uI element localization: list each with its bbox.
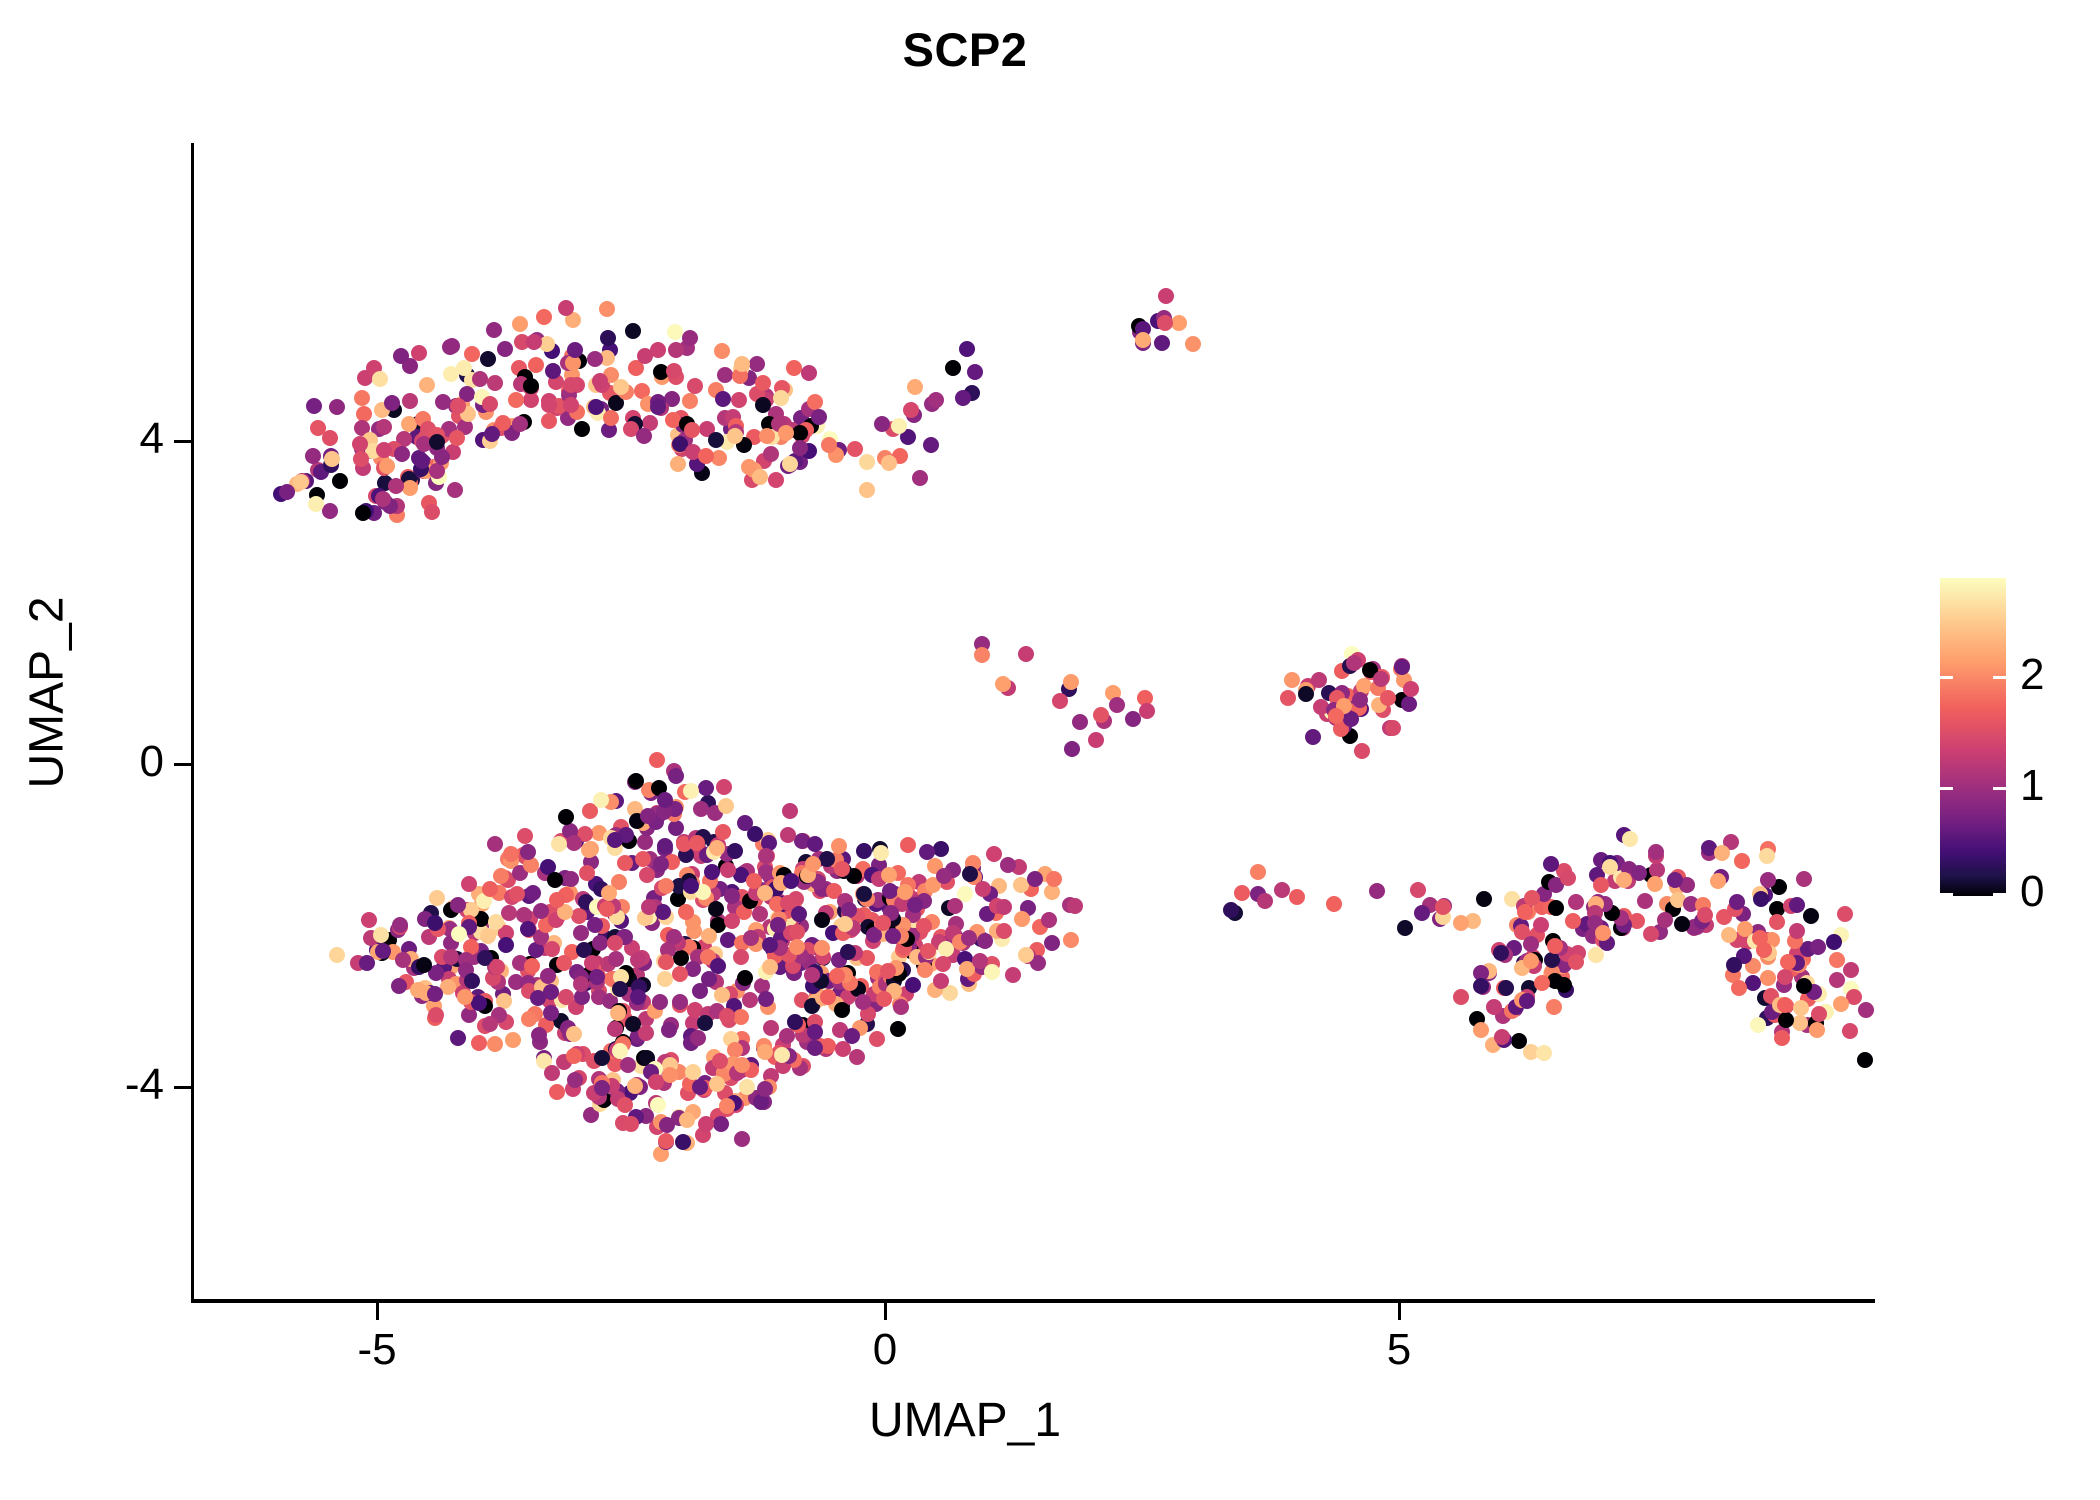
scatter-point <box>414 453 430 469</box>
scatter-point <box>717 367 733 383</box>
scatter-point <box>488 914 504 930</box>
scatter-point <box>361 912 377 928</box>
scatter-point <box>1171 315 1187 331</box>
scatter-point <box>768 472 784 488</box>
scatter-point <box>739 1079 755 1095</box>
scatter-point <box>720 862 736 878</box>
scatter-point <box>1274 882 1290 898</box>
scatter-point <box>305 448 321 464</box>
scatter-point <box>1534 975 1550 991</box>
x-tick-mark <box>376 1303 379 1320</box>
scatter-point <box>556 955 572 971</box>
scatter-point <box>1811 1006 1827 1022</box>
scatter-point <box>1759 848 1775 864</box>
scatter-point <box>936 868 952 884</box>
scatter-point <box>352 436 368 452</box>
scatter-point <box>890 1021 906 1037</box>
scatter-point <box>1544 952 1560 968</box>
scatter-point <box>1637 893 1653 909</box>
scatter-point <box>847 441 863 457</box>
scatter-point <box>1721 927 1737 943</box>
scatter-point <box>859 482 875 498</box>
scatter-point <box>733 949 749 965</box>
scatter-point <box>714 987 730 1003</box>
scatter-point <box>755 397 771 413</box>
colorbar-tick <box>1940 787 1953 790</box>
scatter-point <box>727 843 743 859</box>
scatter-point <box>608 951 624 967</box>
scatter-point <box>617 855 633 871</box>
scatter-point <box>493 868 509 884</box>
scatter-point <box>587 917 603 933</box>
scatter-point <box>1588 947 1604 963</box>
scatter-point <box>819 851 835 867</box>
scatter-point <box>544 1065 560 1081</box>
scatter-point <box>814 912 830 928</box>
scatter-point <box>498 937 514 953</box>
scatter-point <box>933 841 949 857</box>
scatter-point <box>599 301 615 317</box>
scatter-point <box>1072 714 1088 730</box>
scatter-point <box>881 867 897 883</box>
scatter-point <box>600 330 616 346</box>
scatter-point <box>636 428 652 444</box>
page-title: SCP2 <box>0 22 1930 77</box>
scatter-point <box>625 323 641 339</box>
scatter-point <box>464 973 480 989</box>
scatter-point <box>640 808 656 824</box>
scatter-point <box>759 428 775 444</box>
scatter-point <box>670 456 686 472</box>
scatter-point <box>1250 864 1266 880</box>
scatter-point <box>947 898 963 914</box>
scatter-point <box>435 394 451 410</box>
scatter-point <box>1750 1017 1766 1033</box>
scatter-point <box>709 1076 725 1092</box>
y-tick-mark <box>174 763 191 766</box>
scatter-point <box>1829 972 1845 988</box>
scatter-point <box>1046 871 1062 887</box>
scatter-point <box>1546 999 1562 1015</box>
scatter-point <box>675 1134 691 1150</box>
scatter-point <box>903 402 919 418</box>
scatter-point <box>429 434 445 450</box>
scatter-point <box>419 377 435 393</box>
scatter-point <box>692 983 708 999</box>
scatter-point <box>1643 926 1659 942</box>
scatter-point <box>1616 872 1632 888</box>
scatter-point <box>1041 912 1057 928</box>
scatter-point <box>566 835 582 851</box>
scatter-point <box>520 844 536 860</box>
colorbar-tick <box>1940 676 1953 679</box>
scatter-point <box>975 881 991 897</box>
scatter-point <box>786 360 802 376</box>
scatter-point <box>1657 912 1673 928</box>
scatter-point <box>955 390 971 406</box>
scatter-point <box>900 837 916 853</box>
scatter-point <box>472 371 488 387</box>
scatter-point <box>1453 915 1469 931</box>
umap-feature-plot: SCP2 -5 0 5 4 0 -4 UMAP_1 UMAP_2 2 1 0 <box>0 0 2100 1500</box>
scatter-point <box>1157 315 1173 331</box>
scatter-point <box>792 440 808 456</box>
scatter-point <box>563 397 579 413</box>
scatter-point <box>1774 1030 1790 1046</box>
scatter-point <box>355 505 371 521</box>
scatter-point <box>783 873 799 889</box>
scatter-point <box>573 976 589 992</box>
scatter-point <box>661 1022 677 1038</box>
scatter-point <box>1185 336 1201 352</box>
scatter-point <box>692 1079 708 1095</box>
scatter-point <box>427 915 443 931</box>
scatter-point <box>1793 1000 1809 1016</box>
x-tick-label: 5 <box>1339 1325 1459 1375</box>
scatter-point <box>620 1057 636 1073</box>
scatter-point <box>375 491 391 507</box>
scatter-point <box>486 322 502 338</box>
scatter-point <box>411 345 427 361</box>
scatter-point <box>1473 1022 1489 1038</box>
scatter-point <box>551 836 567 852</box>
scatter-point <box>1714 845 1730 861</box>
scatter-point <box>558 989 574 1005</box>
scatter-point <box>1548 900 1564 916</box>
scatter-point <box>1667 872 1683 888</box>
scatter-point <box>1063 932 1079 948</box>
scatter-point <box>376 419 392 435</box>
scatter-point <box>1745 975 1761 991</box>
scatter-point <box>668 342 684 358</box>
scatter-point <box>1289 889 1305 905</box>
scatter-point <box>701 928 717 944</box>
scatter-point <box>402 393 418 409</box>
scatter-point <box>995 676 1011 692</box>
scatter-point <box>1593 877 1609 893</box>
scatter-point <box>545 363 561 379</box>
scatter-point <box>581 842 597 858</box>
scatter-point <box>1476 891 1492 907</box>
scatter-point <box>549 1084 565 1100</box>
scatter-point <box>689 835 705 851</box>
y-tick-mark <box>174 440 191 443</box>
scatter-point <box>778 425 794 441</box>
scatter-point <box>1044 935 1060 951</box>
scatter-point <box>1328 708 1344 724</box>
scatter-point <box>1648 844 1664 860</box>
scatter-point <box>1833 996 1849 1012</box>
scatter-point <box>1533 917 1549 933</box>
scatter-point <box>834 1002 850 1018</box>
scatter-point <box>996 923 1012 939</box>
scatter-point <box>541 397 557 413</box>
scatter-point <box>1005 967 1021 983</box>
scatter-point <box>829 968 845 984</box>
colorbar-label: 0 <box>2020 867 2044 917</box>
scatter-point <box>531 1027 547 1043</box>
scatter-point <box>1401 696 1417 712</box>
colorbar-label: 1 <box>2020 761 2044 811</box>
scatter-point <box>625 1016 641 1032</box>
scatter-point <box>697 1015 713 1031</box>
scatter-point <box>1796 978 1812 994</box>
scatter-point <box>907 379 923 395</box>
scatter-point <box>1809 1022 1825 1038</box>
scatter-point <box>1543 856 1559 872</box>
scatter-point <box>332 473 348 489</box>
scatter-point <box>869 1031 885 1047</box>
y-tick-label: -4 <box>24 1060 164 1110</box>
scatter-point <box>356 406 372 422</box>
scatter-point <box>1014 911 1030 927</box>
scatter-point <box>873 845 889 861</box>
scatter-point <box>1829 952 1845 968</box>
scatter-point <box>456 360 472 376</box>
scatter-point <box>659 1117 675 1133</box>
scatter-point <box>650 1097 666 1113</box>
scatter-point <box>628 773 644 789</box>
scatter-point <box>657 838 673 854</box>
scatter-point <box>1760 970 1776 986</box>
colorbar <box>1940 578 2006 896</box>
scatter-point <box>594 1080 610 1096</box>
scatter-point <box>974 647 990 663</box>
scatter-point <box>567 342 583 358</box>
scatter-point <box>928 392 944 408</box>
scatter-point <box>482 881 498 897</box>
scatter-point <box>308 496 324 512</box>
scatter-point <box>682 330 698 346</box>
scatter-point <box>805 856 821 872</box>
scatter-point <box>447 482 463 498</box>
scatter-point <box>395 952 411 968</box>
scatter-point <box>402 480 418 496</box>
scatter-point <box>612 1043 628 1059</box>
scatter-point <box>1523 936 1539 952</box>
scatter-point <box>856 843 872 859</box>
colorbar-tick <box>1940 893 1953 896</box>
scatter-point <box>1397 920 1413 936</box>
scatter-point <box>1280 690 1296 706</box>
scatter-point <box>487 1036 503 1052</box>
scatter-point <box>782 803 798 819</box>
scatter-point <box>876 991 892 1007</box>
scatter-point <box>1674 916 1690 932</box>
scatter-point <box>329 399 345 415</box>
scatter-point <box>1826 934 1842 950</box>
scatter-point <box>471 1035 487 1051</box>
scatter-point <box>536 309 552 325</box>
scatter-point <box>566 1048 582 1064</box>
scatter-point <box>984 964 1000 980</box>
scatter-point <box>617 1097 633 1113</box>
scatter-point <box>517 828 533 844</box>
colorbar-tick <box>1993 676 2006 679</box>
scatter-point <box>567 1072 583 1088</box>
scatter-point <box>410 982 426 998</box>
scatter-point <box>648 1074 664 1090</box>
scatter-point <box>734 356 750 372</box>
scatter-point <box>718 798 734 814</box>
scatter-point <box>1536 1045 1552 1061</box>
scatter-point <box>549 892 565 908</box>
scatter-point <box>589 969 605 985</box>
scatter-point <box>755 375 771 391</box>
scatter-point <box>1369 883 1385 899</box>
scatter-point <box>916 918 932 934</box>
scatter-point <box>449 430 465 446</box>
scatter-point <box>893 999 909 1015</box>
scatter-point <box>1631 865 1647 881</box>
scatter-point <box>710 958 726 974</box>
scatter-point <box>749 356 765 372</box>
scatter-point <box>565 355 581 371</box>
x-tick-mark <box>884 1303 887 1320</box>
scatter-point <box>443 949 459 965</box>
scatter-point <box>424 504 440 520</box>
scatter-point <box>933 973 949 989</box>
scatter-point <box>672 966 688 982</box>
scatter-point <box>416 957 432 973</box>
colorbar-tick <box>1993 893 2006 896</box>
scatter-point <box>1796 871 1812 887</box>
scatter-point <box>391 978 407 994</box>
y-tick-label: 4 <box>24 414 164 464</box>
scatter-point <box>912 470 928 486</box>
scatter-point <box>905 977 921 993</box>
scatter-point <box>1810 939 1826 955</box>
scatter-point <box>682 393 698 409</box>
scatter-point <box>563 377 579 393</box>
scatter-point <box>1403 681 1419 697</box>
scatter-point <box>547 872 563 888</box>
scatter-point <box>1346 655 1362 671</box>
scatter-point <box>592 935 608 951</box>
scatter-point <box>742 992 758 1008</box>
scatter-point <box>1494 1029 1510 1045</box>
scatter-point <box>731 392 747 408</box>
scatter-point <box>523 378 539 394</box>
scatter-point <box>961 930 977 946</box>
scatter-point <box>1154 335 1170 351</box>
scatter-point <box>607 935 623 951</box>
scatter-point <box>505 1032 521 1048</box>
scatter-point <box>650 342 666 358</box>
scatter-point <box>1622 831 1638 847</box>
scatter-point <box>733 1009 749 1025</box>
scatter-point <box>525 885 541 901</box>
scatter-point <box>587 351 603 367</box>
scatter-point <box>599 901 615 917</box>
scatter-point <box>709 840 725 856</box>
scatter-point <box>658 878 674 894</box>
scatter-point <box>1602 859 1618 875</box>
colorbar-label: 2 <box>2020 650 2044 700</box>
scatter-point <box>1343 711 1359 727</box>
scatter-point <box>666 929 682 945</box>
scatter-point <box>354 390 370 406</box>
scatter-point <box>384 395 400 411</box>
scatter-point <box>524 958 540 974</box>
scatter-point <box>1052 693 1068 709</box>
scatter-point <box>690 1030 706 1046</box>
scatter-point <box>1018 947 1034 963</box>
scatter-point <box>804 967 820 983</box>
scatter-point <box>684 422 700 438</box>
scatter-point <box>1498 980 1514 996</box>
scatter-point <box>1305 729 1321 745</box>
scatter-point <box>727 428 743 444</box>
scatter-point <box>393 348 409 364</box>
scatter-point <box>1298 686 1314 702</box>
scatter-point <box>757 1081 773 1097</box>
scatter-point <box>1067 898 1083 914</box>
scatter-point <box>935 956 951 972</box>
y-axis-label: UMAP_2 <box>20 493 75 893</box>
scatter-point <box>480 351 496 367</box>
scatter-point <box>1753 891 1769 907</box>
scatter-point <box>967 364 983 380</box>
scatter-point <box>637 834 653 850</box>
scatter-point <box>1726 957 1742 973</box>
scatter-point <box>667 324 683 340</box>
scatter-point <box>752 469 768 485</box>
scatter-point <box>1842 1023 1858 1039</box>
scatter-point <box>773 390 789 406</box>
scatter-point <box>541 413 557 429</box>
scatter-point <box>1109 697 1125 713</box>
scatter-point <box>821 437 837 453</box>
scatter-point <box>1756 942 1772 958</box>
scatter-point <box>679 1112 695 1128</box>
scatter-point <box>668 768 684 784</box>
scatter-point <box>807 836 823 852</box>
scatter-point <box>588 399 604 415</box>
scatter-point <box>1560 870 1576 886</box>
scatter-point <box>782 456 798 472</box>
scatter-point <box>713 1116 729 1132</box>
scatter-point <box>840 944 856 960</box>
scatter-point <box>392 917 408 933</box>
scatter-point <box>601 885 617 901</box>
scatter-point <box>1731 980 1747 996</box>
scatter-point <box>1234 885 1250 901</box>
scatter-point <box>687 378 703 394</box>
scatter-point <box>484 426 500 442</box>
scatter-point <box>655 904 671 920</box>
scatter-point <box>811 409 827 425</box>
scatter-point <box>429 890 445 906</box>
scatter-point <box>512 416 528 432</box>
scatter-point <box>996 899 1012 915</box>
scatter-point <box>962 866 978 882</box>
scatter-point <box>814 940 830 956</box>
scatter-point <box>1410 882 1426 898</box>
scatter-point <box>881 455 897 471</box>
scatter-point <box>1519 993 1535 1009</box>
scatter-point <box>594 1050 610 1066</box>
scatter-point <box>1837 906 1853 922</box>
scatter-point <box>427 986 443 1002</box>
x-tick-label: 0 <box>825 1325 945 1375</box>
scatter-point <box>566 1026 582 1042</box>
scatter-point <box>856 886 872 902</box>
scatter-point <box>444 338 460 354</box>
scatter-point <box>1158 288 1174 304</box>
scatter-point <box>724 913 740 929</box>
scatter-point <box>849 1049 865 1065</box>
